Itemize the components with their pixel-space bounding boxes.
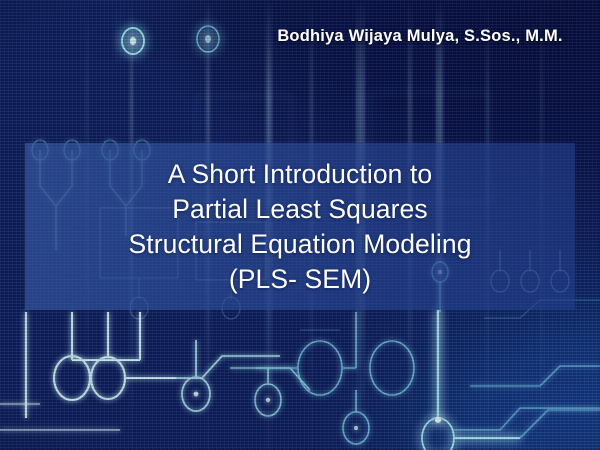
title-line-4: (PLS- SEM): [229, 262, 371, 297]
title-block: A Short Introduction to Partial Least Sq…: [25, 143, 575, 310]
title-slide: Bodhiya Wijaya Mulya, S.Sos., M.M. A Sho…: [0, 0, 600, 450]
title-line-1: A Short Introduction to: [168, 157, 433, 192]
title-line-3: Structural Equation Modeling: [128, 227, 471, 262]
title-line-2: Partial Least Squares: [172, 192, 427, 227]
author-name: Bodhiya Wijaya Mulya, S.Sos., M.M.: [265, 27, 575, 46]
